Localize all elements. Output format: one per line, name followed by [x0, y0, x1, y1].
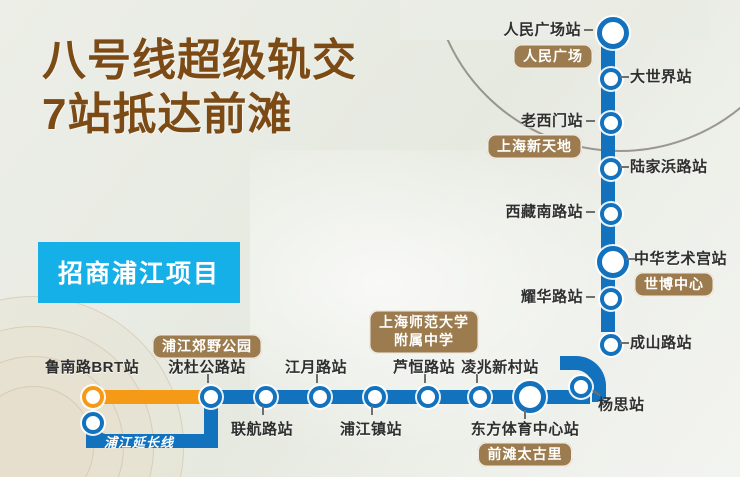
station-dot-yaohua-lu[interactable]	[600, 288, 622, 310]
metro-line-diagonal-segment	[0, 0, 13, 64]
tick-chengshan-lu	[620, 342, 629, 344]
metro-line-poster: 八号线超级轨交 7站抵达前滩 招商浦江项目 浦江延长线 人民广场站 人民广场 大…	[0, 0, 740, 477]
corner-arc-decoration	[430, 0, 740, 152]
station-dot-pujiang-zhen[interactable]	[364, 386, 386, 408]
station-label-dashijie: 大世界站	[630, 66, 692, 87]
halo-ring-4	[0, 386, 94, 477]
station-dot-lianhang-lu[interactable]	[255, 386, 277, 408]
station-label-pujiang-zhen: 浦江镇站	[340, 418, 402, 439]
tick-laoximen	[586, 120, 595, 122]
station-label-xizang-nanlu: 西藏南路站	[505, 201, 583, 222]
station-dot-lingzhao-xincun[interactable]	[469, 386, 491, 408]
station-label-laoximen: 老西门站	[521, 110, 583, 131]
station-label-lunan-lu-brt: 鲁南路BRT站	[45, 356, 139, 377]
station-label-yaohua-lu: 耀华路站	[521, 286, 583, 307]
station-label-yangsi: 杨思站	[598, 394, 645, 415]
station-label-lianhang-lu: 联航路站	[231, 418, 293, 439]
station-label-lujiabang-lu: 陆家浜路站	[630, 156, 708, 177]
station-label-lingzhao-xincun: 凌兆新村站	[461, 356, 539, 377]
poi-badge-pujiang-jiaoye-gongyuan: 浦江郊野公园	[152, 334, 262, 359]
station-label-jiangyue-lu: 江月路站	[285, 356, 347, 377]
station-dot-chengshan-lu[interactable]	[600, 334, 622, 356]
poi-badge-qiantan-taikooli: 前滩太古里	[478, 442, 573, 467]
station-dot-zhonghua-yishugong[interactable]	[597, 246, 629, 278]
poi-shishida-line-1: 上海师范大学	[379, 314, 469, 330]
extension-line-label: 浦江延长线	[104, 432, 174, 451]
station-label-shendu-gonglu: 沈杜公路站	[168, 356, 246, 377]
tick-xizang-nanlu	[586, 211, 595, 213]
station-label-dongfang-tiyu-zhongxin: 东方体育中心站	[471, 418, 580, 439]
station-dot-lujiabang-lu[interactable]	[600, 158, 622, 180]
poi-shishida-line-2: 附属中学	[394, 332, 454, 348]
project-badge[interactable]: 招商浦江项目	[38, 242, 240, 303]
station-dot-jiangyue-lu[interactable]	[309, 386, 331, 408]
station-dot-shendu-gonglu[interactable]	[200, 386, 222, 408]
station-label-zhonghua-yishugong: 中华艺术宫站	[634, 248, 727, 269]
station-dot-yangsi[interactable]	[570, 376, 592, 398]
poster-headline: 八号线超级轨交 7站抵达前滩	[42, 34, 357, 142]
tick-lujiabang-lu	[620, 166, 629, 168]
station-label-chengshan-lu: 成山路站	[630, 332, 692, 353]
tick-pujiang-zhen	[371, 406, 373, 415]
poi-badge-shanghai-shifan-daxue: 上海师范大学 附属中学	[369, 310, 479, 354]
tick-lianhang-lu	[262, 406, 264, 415]
poi-badge-shibo-zhongxin: 世博中心	[634, 272, 714, 297]
station-dot-extension-terminus[interactable]	[82, 412, 104, 434]
station-dot-luheng-lu[interactable]	[417, 386, 439, 408]
brt-line-segment	[86, 390, 210, 404]
tick-renmin-guangchang	[584, 29, 593, 31]
station-dot-dongfang-tiyu-zhongxin[interactable]	[514, 381, 546, 413]
tick-yaohua-lu	[586, 296, 595, 298]
station-dot-dashijie[interactable]	[600, 68, 622, 90]
station-dot-renmin-guangchang[interactable]	[597, 17, 629, 49]
tick-dashijie	[620, 76, 629, 78]
headline-line-1: 八号线超级轨交	[42, 36, 357, 85]
station-label-renmin-guangchang: 人民广场站	[503, 19, 581, 40]
station-dot-laoximen[interactable]	[600, 112, 622, 134]
headline-line-2: 7站抵达前滩	[42, 88, 357, 142]
station-dot-lunan-lu-brt[interactable]	[82, 386, 104, 408]
station-label-luheng-lu: 芦恒路站	[393, 356, 455, 377]
poi-badge-xintiandi: 上海新天地	[487, 134, 582, 159]
station-dot-xizang-nanlu[interactable]	[600, 203, 622, 225]
poi-badge-renmin-guangchang: 人民广场	[513, 44, 593, 69]
